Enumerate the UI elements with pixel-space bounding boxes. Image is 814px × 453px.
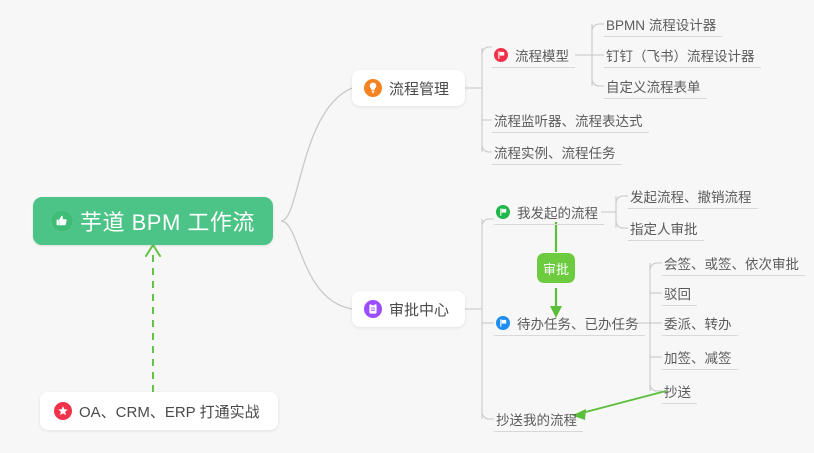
node-my-initiated-process[interactable]: 我发起的流程: [494, 199, 604, 225]
leaf-label: 抄送我的流程: [496, 409, 577, 429]
arrow-note-head: [146, 245, 160, 256]
leaf-label: 自定义流程表单: [606, 76, 701, 96]
thumbs-up-icon: [51, 210, 73, 232]
node-todo-done-tasks[interactable]: 待办任务、已办任务: [494, 310, 645, 336]
node-process-model[interactable]: 流程模型: [492, 42, 575, 68]
leaf-label: 流程实例、流程任务: [494, 142, 616, 162]
leaf-label: 驳回: [664, 283, 691, 303]
flag-icon: [496, 205, 510, 219]
flag-icon: [496, 316, 510, 330]
bottom-note-label: OA、CRM、ERP 打通实战: [79, 401, 260, 422]
leaf-label: BPMN 流程设计器: [606, 14, 716, 34]
branch-process-management[interactable]: 流程管理: [352, 70, 465, 106]
leaf-label: 钉钉（飞书）流程设计器: [606, 45, 755, 65]
wire-root-to-process-management: [281, 88, 352, 221]
branch-label: 流程管理: [389, 78, 449, 99]
wire-todo-e1: [650, 263, 662, 270]
wire-root-to-approval-center: [281, 221, 352, 309]
bottom-note-card[interactable]: OA、CRM、ERP 打通实战: [40, 392, 278, 430]
leaf-label: 指定人审批: [630, 218, 698, 238]
leaf-carbon-copy[interactable]: 抄送: [662, 378, 697, 404]
leaf-process-listener-expression[interactable]: 流程监听器、流程表达式: [492, 107, 649, 133]
node-label: 流程模型: [515, 45, 569, 65]
mindmap-canvas: 芋道 BPM 工作流 流程管理 流程模型 BPMN 流程设计器 钉钉（飞书: [0, 0, 814, 453]
wire-mine-bottom-elbow: [616, 221, 628, 228]
wire-pmodel-top-elbow: [592, 24, 604, 31]
star-icon: [54, 402, 72, 420]
leaf-dingtalk-feishu-designer[interactable]: 钉钉（飞书）流程设计器: [604, 42, 761, 68]
lightbulb-icon: [364, 79, 382, 97]
leaf-delegate-transfer[interactable]: 委派、转办: [662, 310, 738, 336]
approve-callout-label: 审批: [543, 259, 569, 278]
leaf-bpmn-designer[interactable]: BPMN 流程设计器: [604, 11, 722, 37]
wire-pmodel-bottom-elbow: [592, 79, 604, 86]
leaf-countersign-orsign-sequential[interactable]: 会签、或签、依次审批: [662, 250, 805, 276]
branch-label: 审批中心: [389, 299, 449, 320]
wire-pm-top-elbow: [482, 47, 492, 54]
leaf-process-instance-task[interactable]: 流程实例、流程任务: [492, 139, 622, 165]
branch-approval-center[interactable]: 审批中心: [352, 291, 465, 327]
root-label: 芋道 BPM 工作流: [80, 205, 255, 237]
leaf-label: 加签、减签: [664, 347, 732, 367]
leaf-custom-process-form[interactable]: 自定义流程表单: [604, 73, 707, 99]
arrow-cc-line: [578, 391, 666, 414]
leaf-label: 发起流程、撤销流程: [630, 186, 752, 206]
node-label: 我发起的流程: [517, 202, 598, 222]
flag-icon: [494, 48, 508, 62]
wire-todo-e5: [650, 384, 662, 391]
leaf-label: 会签、或签、依次审批: [664, 253, 799, 273]
leaf-label: 流程监听器、流程表达式: [494, 110, 643, 130]
node-label: 待办任务、已办任务: [517, 313, 639, 333]
wire-ac-bottom-elbow: [482, 412, 494, 419]
leaf-label: 抄送: [664, 381, 691, 401]
wire-mine-top-elbow: [616, 196, 628, 203]
leaf-cc-to-me-process[interactable]: 抄送我的流程: [494, 406, 583, 432]
leaf-assignee-approval[interactable]: 指定人审批: [628, 215, 704, 241]
approve-callout-tag: 审批: [537, 253, 575, 283]
leaf-add-remove-sign[interactable]: 加签、减签: [662, 344, 738, 370]
leaf-start-cancel-process[interactable]: 发起流程、撤销流程: [628, 183, 758, 209]
root-node[interactable]: 芋道 BPM 工作流: [33, 197, 273, 245]
wire-ac-top-elbow: [482, 219, 494, 226]
leaf-label: 委派、转办: [664, 313, 732, 333]
clipboard-icon: [364, 300, 382, 318]
wire-pm-bottom-elbow: [482, 145, 492, 152]
leaf-reject[interactable]: 驳回: [662, 280, 697, 306]
